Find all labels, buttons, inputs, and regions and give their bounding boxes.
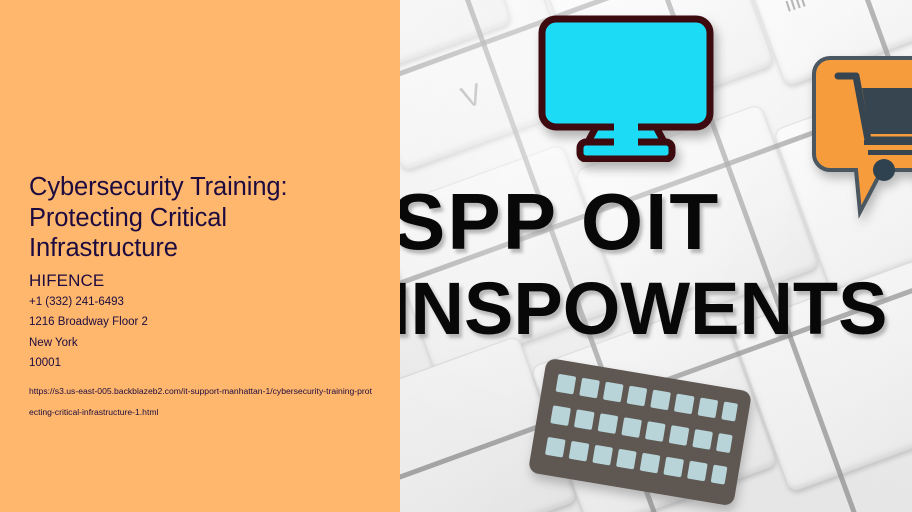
poster-canvas: Cybersecurity Training: Protecting Criti… bbox=[0, 0, 912, 512]
photo-headline-line-1: SPP OIT bbox=[400, 176, 720, 268]
photo-panel: V llll bbox=[400, 0, 912, 512]
monitor-icon bbox=[536, 14, 716, 162]
phone-number: +1 (332) 241-6493 bbox=[29, 292, 377, 313]
page-title: Cybersecurity Training: Protecting Criti… bbox=[29, 172, 377, 264]
address-city: New York bbox=[29, 333, 377, 354]
photo-headline-line-2: INSPOWENTS bbox=[400, 266, 887, 351]
address-street: 1216 Broadway Floor 2 bbox=[29, 312, 377, 333]
address-zip: 10001 bbox=[29, 353, 377, 374]
left-info-panel: Cybersecurity Training: Protecting Criti… bbox=[0, 0, 400, 512]
company-name: HIFENCE bbox=[29, 270, 377, 292]
text-block: Cybersecurity Training: Protecting Criti… bbox=[29, 172, 377, 423]
source-url[interactable]: https://s3.us-east-005.backblazeb2.com/i… bbox=[29, 381, 373, 423]
shopping-cart-bubble-icon bbox=[812, 54, 912, 220]
